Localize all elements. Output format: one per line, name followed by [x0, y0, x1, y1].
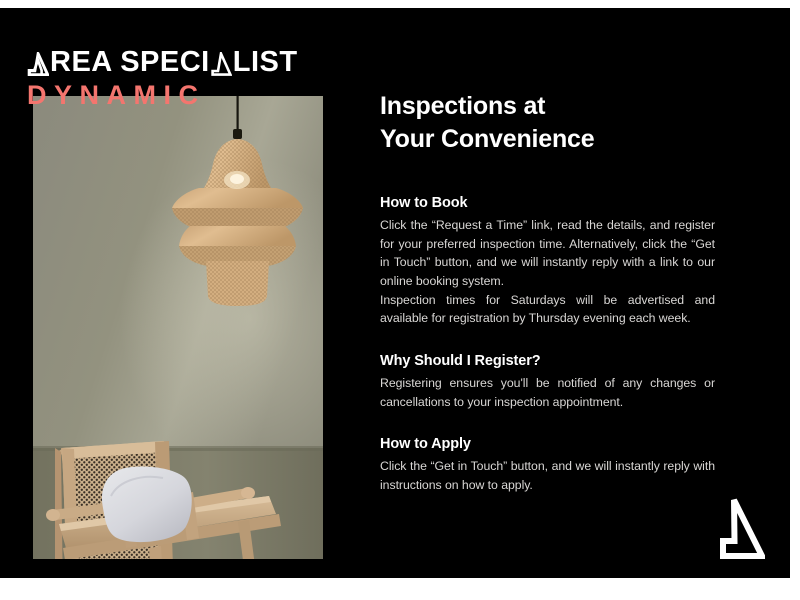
section-why-should-i-register: Why Should I Register? Registering ensur… [380, 352, 715, 411]
brand-logo: REA SPECI LIST DYNAMIC [27, 48, 298, 109]
interior-photo [33, 96, 323, 559]
page-title: Inspections at Your Convenience [380, 90, 715, 156]
delta-a-icon-2 [210, 52, 232, 76]
delta-a-icon [27, 52, 49, 76]
delta-a-logo-icon [703, 497, 765, 559]
slide-canvas: REA SPECI LIST DYNAMIC [0, 8, 790, 578]
section-paragraph: Click the “Get in Touch” button, and we … [380, 457, 715, 494]
section-paragraph: Inspection times for Saturdays will be a… [380, 291, 715, 328]
section-title: Why Should I Register? [380, 352, 715, 371]
section-how-to-book: How to Book Click the “Request a Time” l… [380, 194, 715, 328]
section-title: How to Apply [380, 435, 715, 454]
brand-name-line1: REA SPECI LIST [27, 48, 298, 77]
section-title: How to Book [380, 194, 715, 213]
brand-name-line1-tail: LIST [233, 48, 298, 77]
section-paragraph: Registering ensures you'll be notified o… [380, 374, 715, 411]
brand-name-line1-text: REA SPECI [50, 48, 210, 77]
section-paragraph: Click the “Request a Time” link, read th… [380, 216, 715, 291]
headline-line-1: Inspections at [380, 92, 545, 120]
content-column: Inspections at Your Convenience How to B… [380, 90, 715, 494]
headline-line-2: Your Convenience [380, 125, 594, 153]
brand-name-line2: DYNAMIC [27, 82, 298, 109]
section-how-to-apply: How to Apply Click the “Get in Touch” bu… [380, 435, 715, 494]
